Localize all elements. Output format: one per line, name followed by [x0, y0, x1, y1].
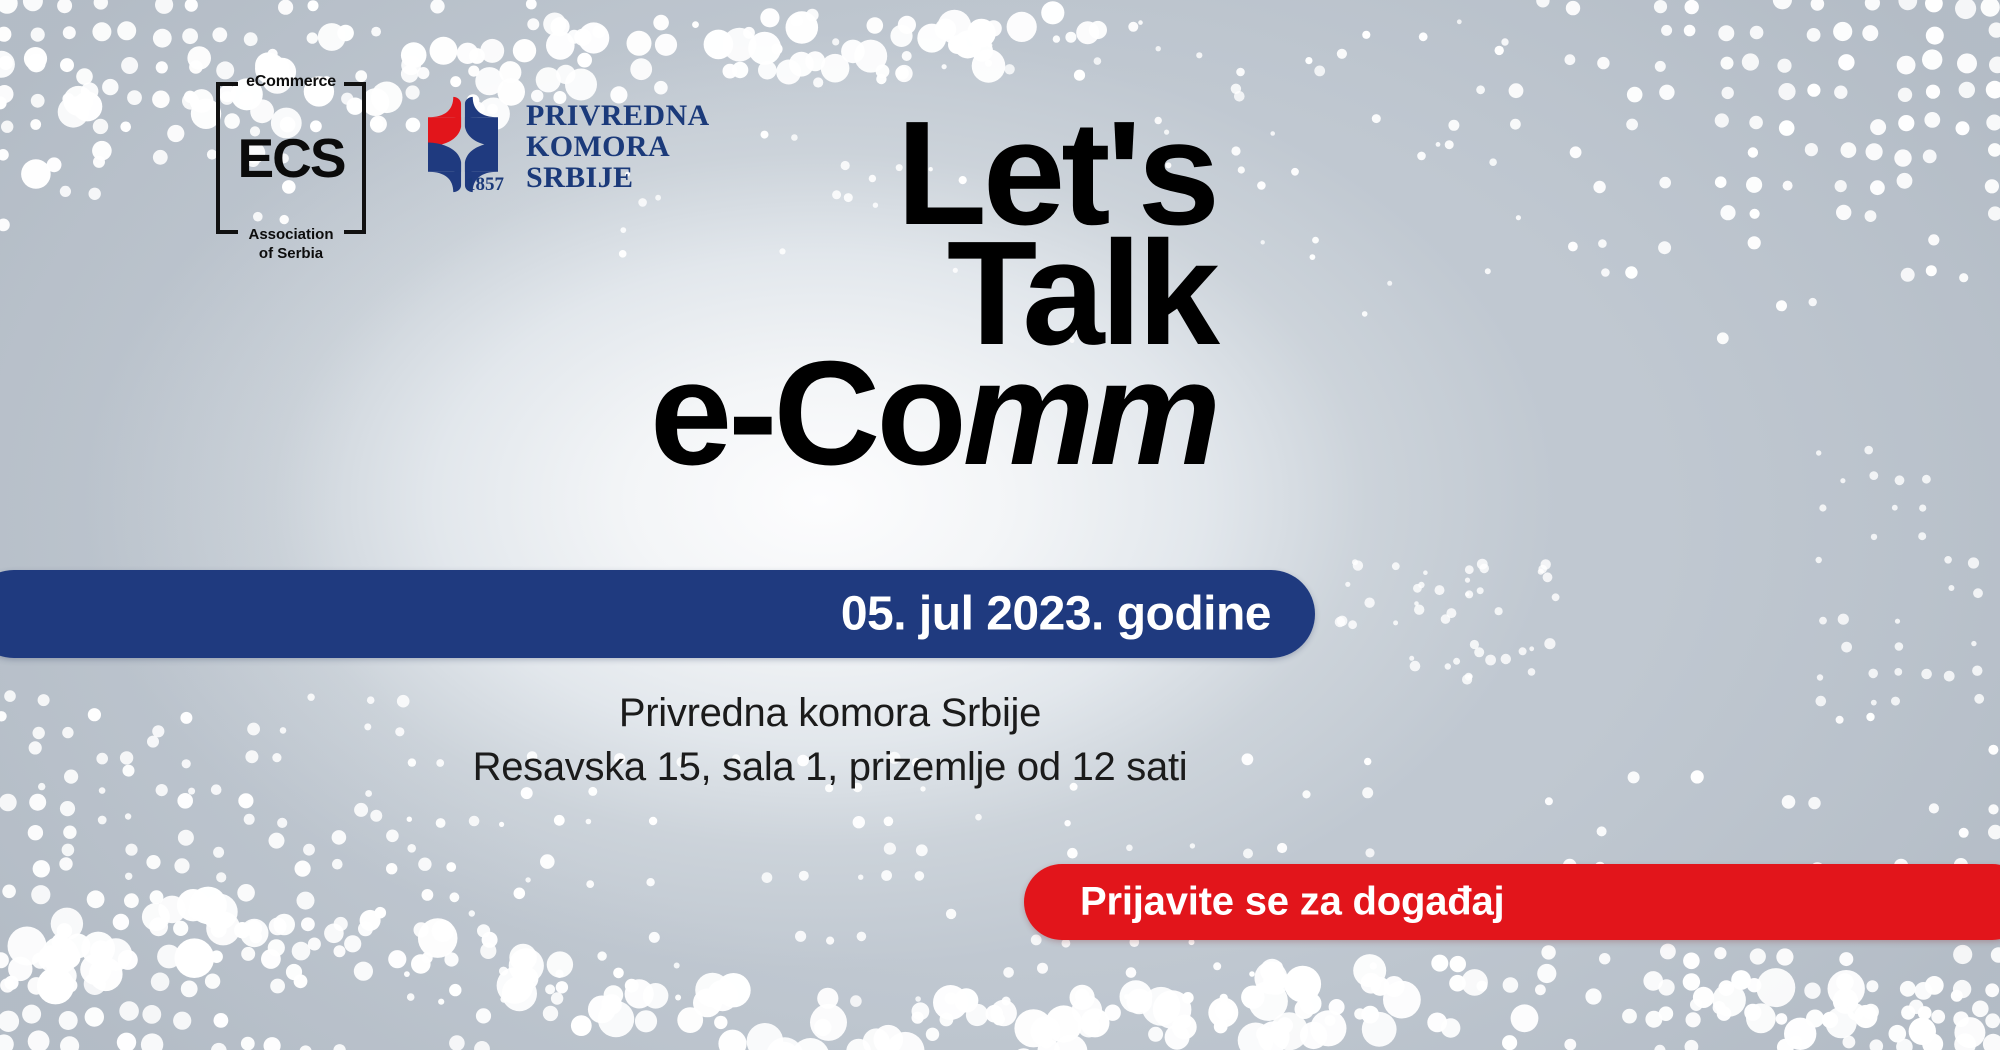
ecs-logo: eCommerce ECS Association of Serbia — [216, 82, 366, 234]
headline-line-3: e-Comm — [650, 348, 1216, 480]
date-label: 05. jul 2023. godine — [841, 587, 1271, 642]
ecs-top-caption: eCommerce — [216, 72, 366, 92]
date-bar: 05. jul 2023. godine — [0, 570, 1315, 658]
pks-founding-year: 1857 — [466, 174, 504, 196]
ecs-wordmark: ECS — [216, 126, 366, 190]
venue-line-2: Resavska 15, sala 1, prizemlje od 12 sat… — [0, 740, 1830, 794]
pks-wordmark-line2: KOMORA — [526, 131, 710, 162]
venue-details: Privredna komora Srbije Resavska 15, sal… — [0, 686, 1830, 794]
pks-wordmark-line1: PRIVREDNA — [526, 100, 710, 131]
venue-line-1: Privredna komora Srbije — [0, 686, 1830, 740]
event-banner: eCommerce ECS Association of Serbia 1857… — [0, 0, 2000, 1050]
headline-line-3-prefix: e-Co — [650, 331, 963, 496]
ecs-bottom-caption-line1: Association — [208, 225, 374, 244]
ecs-bottom-caption: Association of Serbia — [208, 225, 374, 244]
headline-line-3-italic: mm — [963, 331, 1216, 496]
register-cta-button[interactable]: Prijavite se za događaj — [1024, 864, 2000, 940]
pks-wordmark-line3: SRBIJE — [526, 162, 710, 193]
pks-wordmark: PRIVREDNA KOMORA SRBIJE — [526, 100, 710, 193]
ecs-bottom-caption-line2: of Serbia — [208, 244, 374, 263]
register-cta-label: Prijavite se za događaj — [1080, 880, 1504, 925]
pks-logo: 1857 PRIVREDNA KOMORA SRBIJE — [414, 92, 694, 207]
